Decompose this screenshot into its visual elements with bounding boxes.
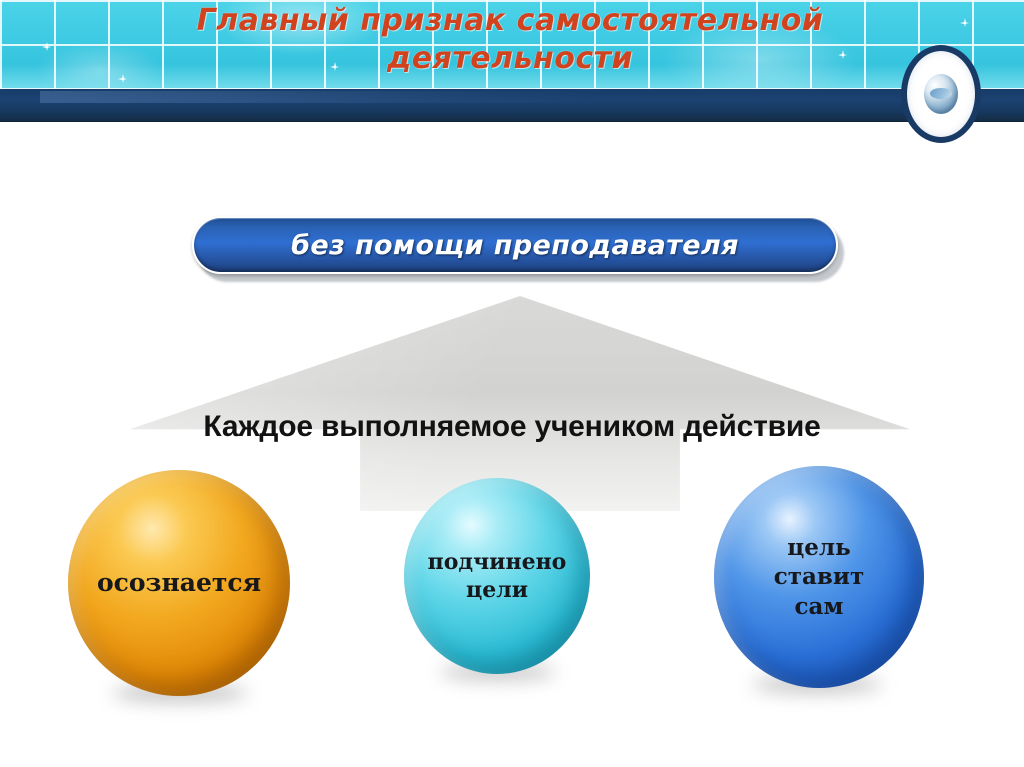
sphere-label-line: цель: [774, 533, 864, 562]
header-navy-highlight: [40, 91, 600, 103]
pill-banner[interactable]: без помощи преподавателя: [192, 216, 838, 274]
globe-icon: [924, 74, 958, 114]
middle-caption: Каждое выполняемое учеником действие: [0, 410, 1024, 444]
middle-caption-label: Каждое выполняемое учеником действие: [203, 410, 820, 443]
pill-banner-label: без помощи преподавателя: [291, 230, 739, 261]
slide-title-line-2: деятельности: [140, 40, 880, 78]
sphere-podchineno-tseli[interactable]: подчинено цели: [404, 478, 590, 674]
sphere-label-line: цели: [428, 576, 567, 604]
globe-badge-logo: [901, 45, 981, 143]
sphere-label: цель ставит сам: [768, 533, 870, 621]
sphere-label: осознается: [91, 567, 267, 599]
sphere-label-line: ставит: [774, 562, 864, 591]
sphere-label-line: сам: [774, 592, 864, 621]
slide-title-line-1: Главный признак самостоятельной: [140, 2, 880, 40]
sparkle-icon: [960, 18, 969, 27]
sphere-label-line: осознается: [97, 567, 261, 599]
sphere-tsel-stavit-sam[interactable]: цель ставит сам: [714, 466, 924, 688]
sphere-osoznaetsya[interactable]: осознается: [68, 470, 290, 696]
sparkle-icon: [118, 74, 127, 83]
sphere-label: подчинено цели: [422, 548, 573, 604]
sparkle-icon: [42, 42, 51, 51]
slide-title: Главный признак самостоятельной деятельн…: [140, 2, 880, 78]
presentation-slide: Главный признак самостоятельной деятельн…: [0, 0, 1024, 767]
sphere-label-line: подчинено: [428, 548, 567, 576]
